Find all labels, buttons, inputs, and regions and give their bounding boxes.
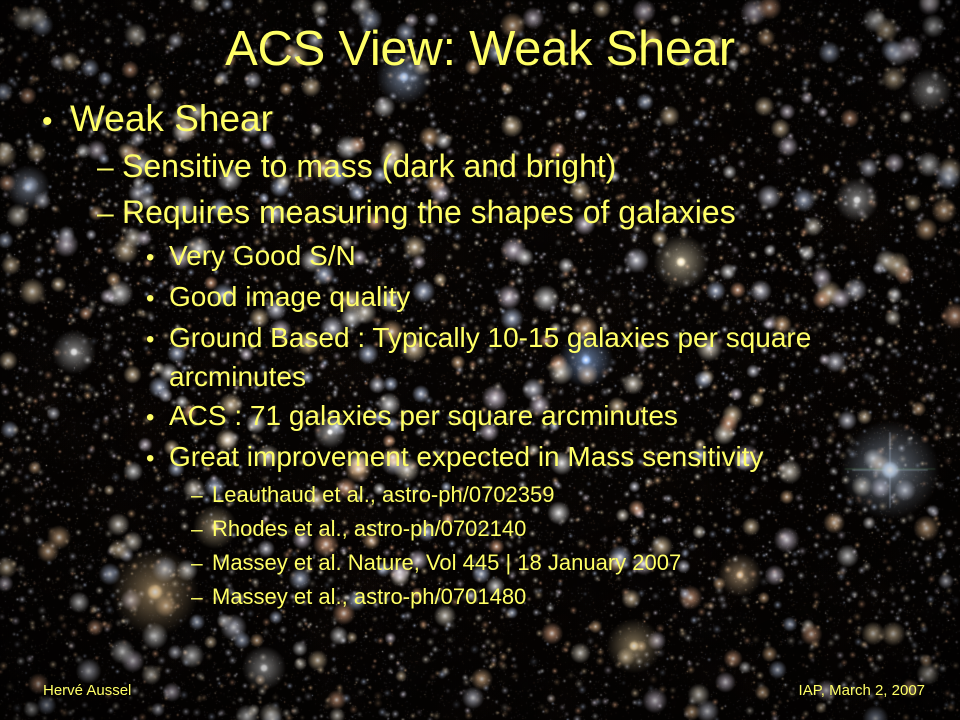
- outline-item-level-4: –Leauthaud et al., astro-ph/0702359: [0, 478, 960, 512]
- round-bullet-icon: •: [146, 398, 169, 437]
- outline-item-level-4: –Rhodes et al., astro-ph/0702140: [0, 512, 960, 546]
- dash-bullet-icon: –: [97, 191, 122, 236]
- presentation-slide: ACS View: Weak Shear •Weak Shear–Sensiti…: [0, 0, 960, 720]
- outline-item-level-3: •Great improvement expected in Mass sens…: [0, 437, 946, 478]
- dash-bullet-icon: –: [97, 145, 122, 190]
- outline-item-text: Rhodes et al., astro-ph/0702140: [212, 512, 526, 545]
- round-bullet-icon: •: [146, 279, 169, 318]
- outline-item-text: Great improvement expected in Mass sensi…: [169, 437, 763, 476]
- round-bullet-icon: •: [146, 439, 169, 478]
- outline-item-level-3: •ACS : 71 galaxies per square arcminutes: [0, 396, 946, 437]
- round-bullet-icon: •: [146, 320, 169, 359]
- outline-item-level-2: –Requires measuring the shapes of galaxi…: [0, 190, 960, 236]
- footer-author: Hervé Aussel: [43, 682, 131, 699]
- slide-footer: Hervé Aussel IAP, March 2, 2007: [0, 682, 960, 704]
- round-bullet-icon: •: [146, 238, 169, 277]
- outline-item-level-2: –Sensitive to mass (dark and bright): [0, 144, 960, 190]
- outline-item-text: ACS : 71 galaxies per square arcminutes: [169, 396, 678, 435]
- outline-item-text: Requires measuring the shapes of galaxie…: [122, 190, 736, 235]
- outline-item-text: Sensitive to mass (dark and bright): [122, 144, 616, 189]
- outline-item-text: Massey et al., astro-ph/0701480: [212, 580, 526, 613]
- slide-body-outline: •Weak Shear–Sensitive to mass (dark and …: [0, 97, 960, 614]
- outline-item-text: Good image quality: [169, 277, 410, 316]
- outline-item-text: Massey et al. Nature, Vol 445 | 18 Janua…: [212, 546, 681, 579]
- outline-item-level-3: •Very Good S/N: [0, 236, 946, 277]
- slide-title: ACS View: Weak Shear: [0, 24, 960, 75]
- outline-item-text: Very Good S/N: [169, 236, 356, 275]
- outline-item-text: Leauthaud et al., astro-ph/0702359: [212, 478, 555, 511]
- outline-item-level-4: –Massey et al., astro-ph/0701480: [0, 580, 960, 614]
- outline-item-level-3: •Good image quality: [0, 277, 946, 318]
- outline-item-text: Weak Shear: [70, 97, 273, 141]
- outline-item-level-4: –Massey et al. Nature, Vol 445 | 18 Janu…: [0, 546, 960, 580]
- dash-bullet-icon: –: [191, 479, 212, 512]
- footer-venue-date: IAP, March 2, 2007: [799, 682, 925, 699]
- outline-item-text: Ground Based : Typically 10-15 galaxies …: [169, 318, 939, 396]
- outline-item-level-3: •Ground Based : Typically 10-15 galaxies…: [0, 318, 946, 396]
- dash-bullet-icon: –: [191, 547, 212, 580]
- slide-content: ACS View: Weak Shear •Weak Shear–Sensiti…: [0, 0, 960, 720]
- round-bullet-icon: •: [42, 100, 70, 144]
- dash-bullet-icon: –: [191, 581, 212, 614]
- dash-bullet-icon: –: [191, 513, 212, 546]
- outline-item-level-1: •Weak Shear: [0, 97, 960, 144]
